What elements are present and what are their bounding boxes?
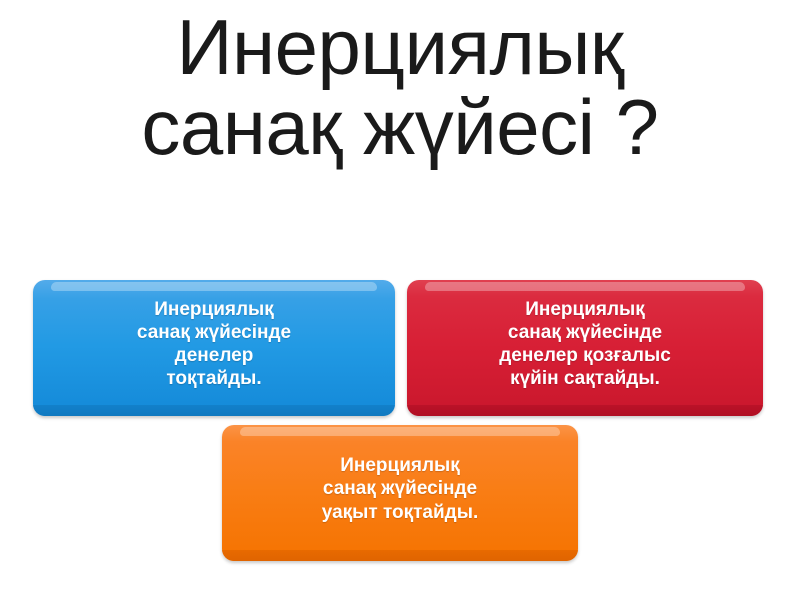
answer-option-orange-label: Инерциялық санақ жүйесінде уақыт тоқтайд… xyxy=(236,454,564,524)
answer-option-red-label: Инерциялық санақ жүйесінде денелер қозға… xyxy=(421,298,749,391)
quiz-stage: Инерциялық санақ жүйесі ? Инерциялық сан… xyxy=(0,0,800,600)
answer-option-blue[interactable]: Инерциялық санақ жүйесінде денелер тоқта… xyxy=(33,280,395,416)
question-title: Инерциялық санақ жүйесі ? xyxy=(0,8,800,167)
answer-option-blue-label: Инерциялық санақ жүйесінде денелер тоқта… xyxy=(47,298,381,391)
answer-option-orange[interactable]: Инерциялық санақ жүйесінде уақыт тоқтайд… xyxy=(222,425,578,561)
answer-option-red[interactable]: Инерциялық санақ жүйесінде денелер қозға… xyxy=(407,280,763,416)
